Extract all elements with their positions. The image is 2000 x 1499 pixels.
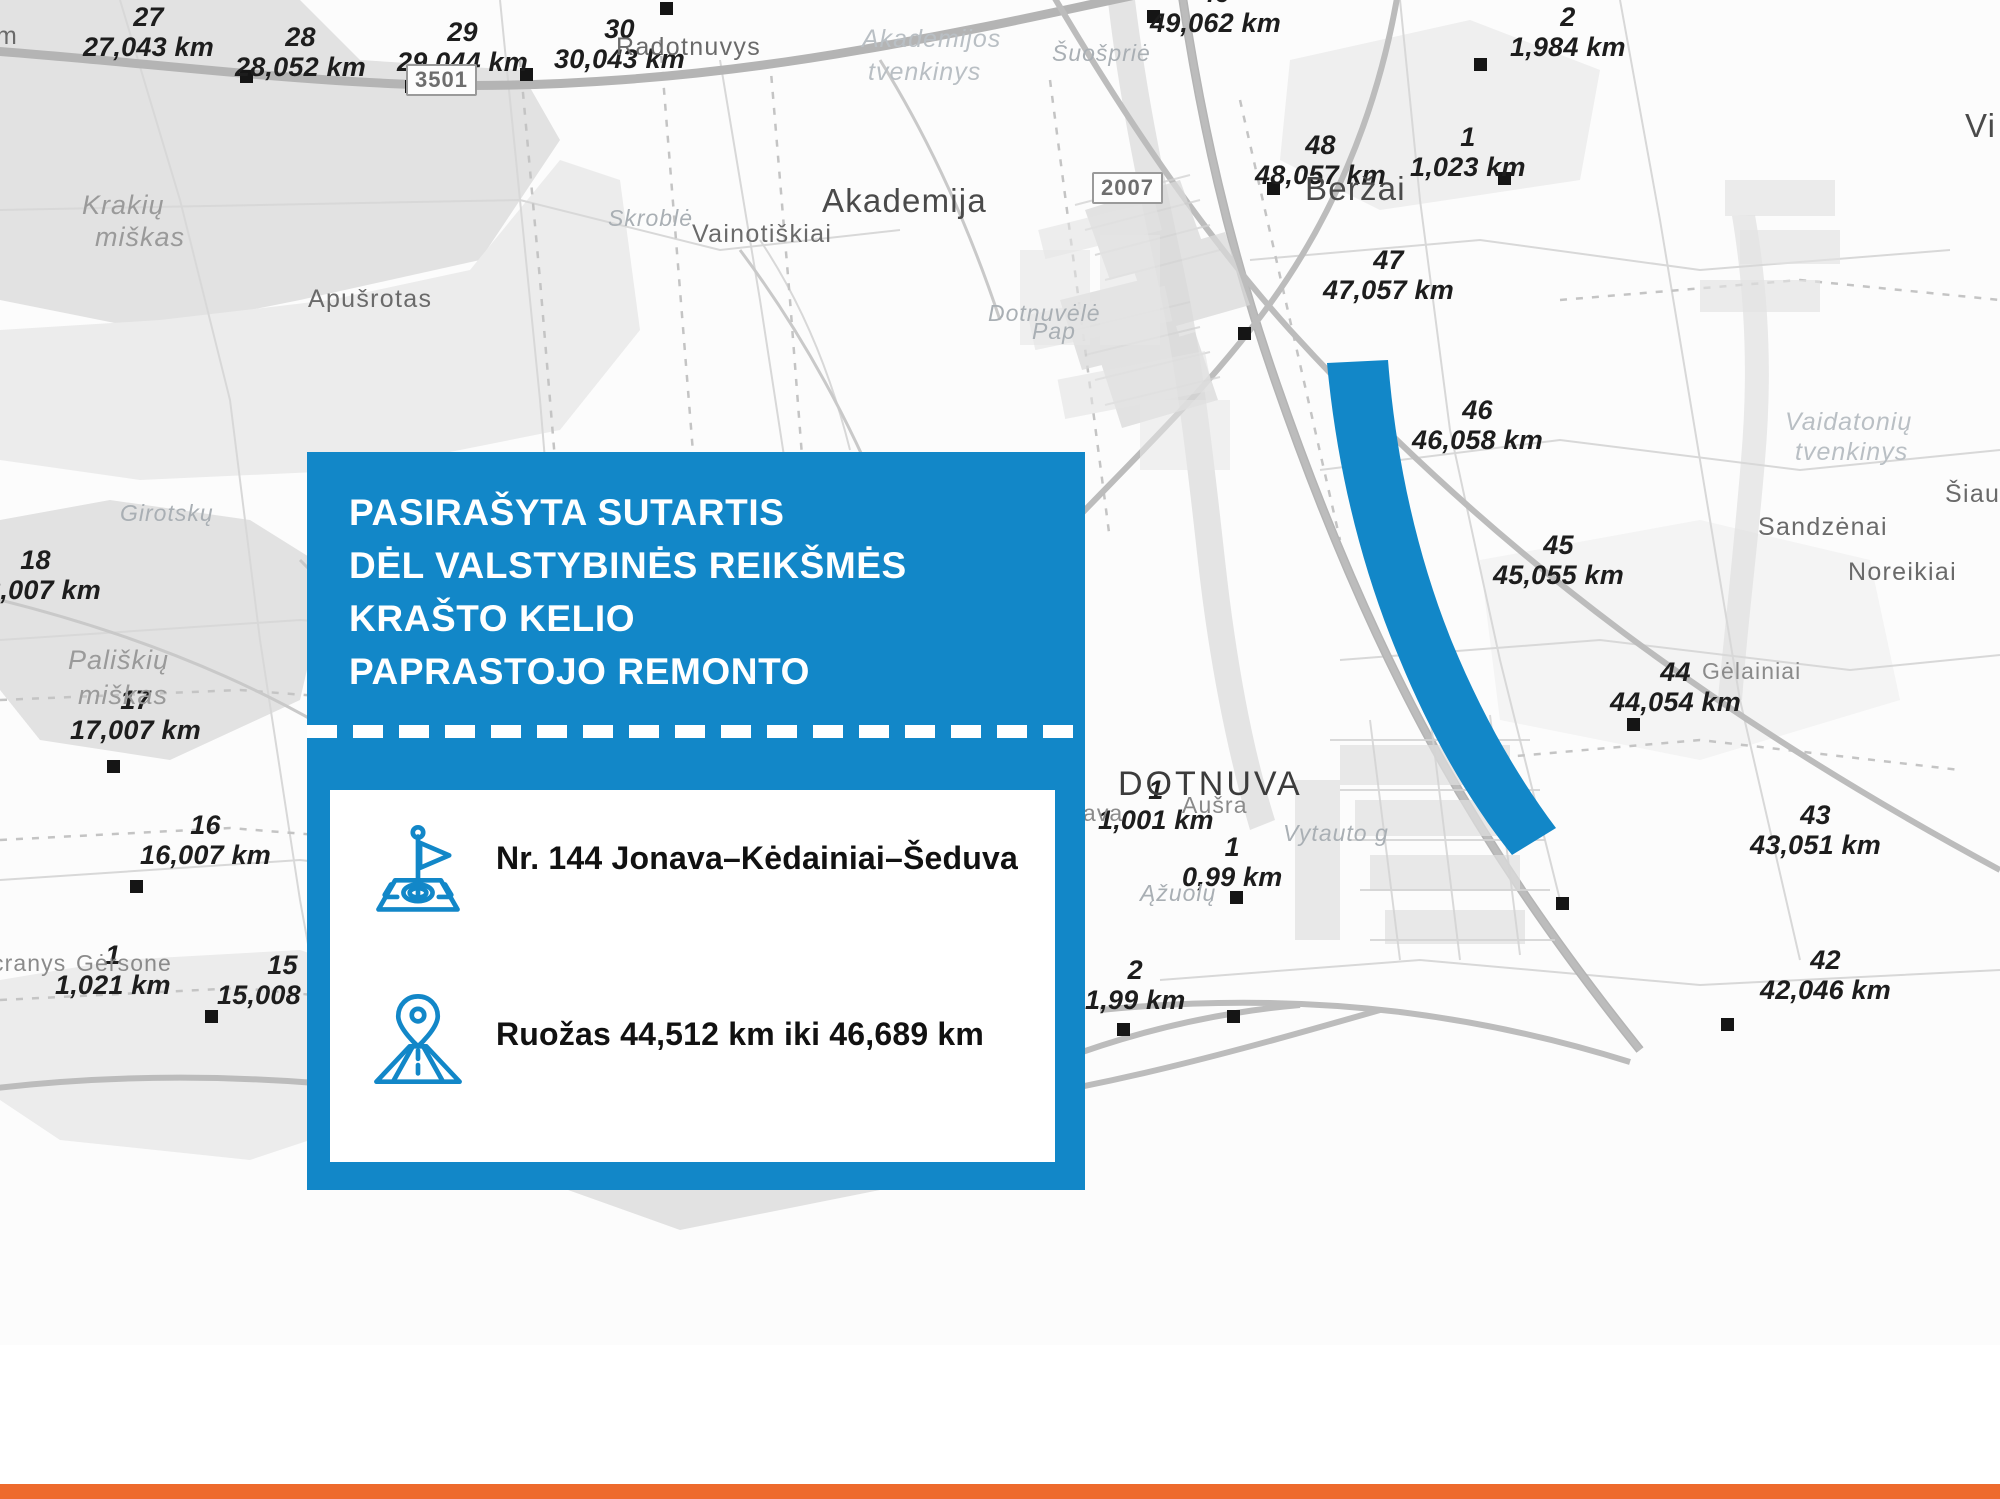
road-number-shield: 2007 xyxy=(1092,172,1163,204)
title-line-4: PAPRASTOJO REMONTO xyxy=(349,646,1059,699)
details-card: Nr. 144 Jonava–Kėdainiai–Šeduva Ruož xyxy=(330,790,1055,1162)
map-flag-icon xyxy=(366,820,470,924)
road-number-row: Nr. 144 Jonava–Kėdainiai–Šeduva xyxy=(366,820,1018,924)
road-number-shield: 3501 xyxy=(406,64,477,96)
infographic-root: .lnd{fill:#e2e2e2;} .lnd2{fill:#ececec;}… xyxy=(0,0,2000,1499)
dashed-divider xyxy=(307,725,1085,738)
footer: LIETUVOS AUTOMOBILIŲ KELIŲ DIREKCIJA xyxy=(0,1345,2000,1499)
title-line-1: PASIRAŠYTA SUTARTIS xyxy=(349,487,1059,540)
panel-title: PASIRAŠYTA SUTARTIS DĖL VALSTYBINĖS REIK… xyxy=(349,487,1059,699)
road-number-label: Nr. 144 Jonava–Kėdainiai–Šeduva xyxy=(496,820,1018,880)
road-section-row: Ruožas 44,512 km iki 46,689 km xyxy=(366,986,984,1090)
title-line-2: DĖL VALSTYBINĖS REIKŠMĖS xyxy=(349,540,1059,593)
info-panel: PASIRAŠYTA SUTARTIS DĖL VALSTYBINĖS REIK… xyxy=(307,452,1085,1190)
road-section-label: Ruožas 44,512 km iki 46,689 km xyxy=(496,986,984,1056)
title-line-3: KRAŠTO KELIO xyxy=(349,593,1059,646)
footer-accent-bar xyxy=(0,1484,2000,1499)
road-pin-icon xyxy=(366,986,470,1090)
